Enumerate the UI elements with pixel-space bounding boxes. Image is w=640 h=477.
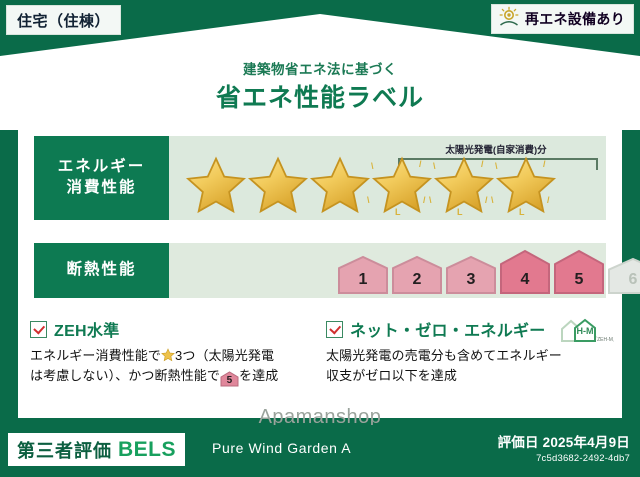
zeh-body: エネルギー消費性能で 3つ（太陽光発電 は考慮しない）、かつ断熱性能で 5 を達… — [30, 346, 312, 386]
star-sparkle-icon: L — [457, 207, 463, 217]
star-icon — [245, 155, 311, 217]
star-sparkle-icon: / — [543, 159, 546, 169]
insulation-level-number: 4 — [521, 271, 530, 289]
zeh-m-logo-caption: 『ZEH-M』 — [592, 336, 614, 343]
zeh-m-logo-icon: H-M 『ZEH-M』 — [558, 316, 614, 346]
zeh-m-logo-text: H-M — [577, 326, 594, 336]
building-type-label: 住宅（住棟） — [17, 10, 110, 31]
star-sparkle-icon: \ — [495, 161, 498, 171]
page-title: 省エネ性能ラベル — [0, 78, 640, 114]
insulation-level-number: 6 — [629, 271, 638, 289]
evaluation-date-value: 2025年4月9日 — [543, 435, 630, 450]
energy-performance-row: エネルギー 消費性能 太陽光発電(自家消費)分 \/\/L\/\/L\/\/L — [34, 136, 606, 220]
insulation-performance-value: 1234567 — [169, 243, 606, 298]
star-icon: \/\/L — [369, 155, 435, 217]
energy-key-line2: 消費性能 — [66, 178, 136, 199]
energy-star-rating: \/\/L\/\/L\/\/L — [183, 154, 600, 218]
star-sparkle-icon: / — [547, 195, 550, 205]
solar-sun-icon — [498, 6, 520, 33]
star-icon: \/\/L — [431, 155, 497, 217]
star-icon — [183, 155, 249, 217]
inline-star-icon — [161, 348, 175, 362]
star-sparkle-icon: \ — [367, 195, 370, 205]
insulation-level-house: 5 — [553, 249, 605, 295]
star-sparkle-icon: \ — [433, 161, 436, 171]
evaluation-date-label: 評価日 — [498, 435, 539, 450]
star-sparkle-icon: / — [481, 159, 484, 169]
zeh-body-line2-a: は考慮しない）、かつ断熱性能で — [30, 368, 220, 383]
bels-en-label: BELS — [118, 438, 176, 462]
renewable-equipment-badge: 再エネ設備あり — [491, 4, 634, 34]
insulation-level-number: 5 — [575, 271, 584, 289]
inline-house-badge: 5 — [220, 371, 239, 386]
footer-bar: 第三者評価 BELS Pure Wind Garden A 評価日 2025年4… — [0, 425, 640, 477]
insulation-level-house: 2 — [391, 255, 443, 295]
zeh-standard-section: ZEH水準 エネルギー消費性能で 3つ（太陽光発電 は考慮しない）、かつ断熱性能… — [30, 318, 312, 386]
renewable-equipment-label: 再エネ設備あり — [525, 9, 625, 29]
netzero-body: 太陽光発電の売電分も含めてエネルギー 収支がゼロ以下を達成 — [326, 346, 608, 386]
bels-jp-label: 第三者評価 — [17, 437, 112, 463]
insulation-performance-row: 断熱性能 1234567 — [34, 243, 606, 298]
energy-key-line1: エネルギー — [58, 157, 146, 178]
evaluation-date: 評価日 2025年4月9日 — [498, 431, 630, 451]
property-name: Pure Wind Garden A — [212, 440, 351, 456]
netzero-body-line2: 収支がゼロ以下を達成 — [326, 368, 457, 383]
insulation-level-scale: 1234567 — [337, 249, 640, 295]
zeh-heading: ZEH水準 — [30, 318, 312, 340]
evaluation-id: 7c5d3682-2492-4db7 — [498, 453, 630, 464]
zeh-title: ZEH水準 — [54, 317, 120, 341]
insulation-level-house: 6 — [607, 257, 640, 295]
check-icon — [326, 321, 343, 338]
star-sparkle-icon: / — [423, 195, 426, 205]
zeh-body-line1-b: 3つ（太陽光発電 — [175, 348, 274, 363]
insulation-level-house: 1 — [337, 255, 389, 295]
star-sparkle-icon: \ — [491, 195, 494, 205]
insulation-level-number: 3 — [467, 271, 476, 289]
zeh-body-line1-a: エネルギー消費性能で — [30, 348, 161, 363]
netzero-body-line1: 太陽光発電の売電分も含めてエネルギー — [326, 348, 562, 363]
star-icon: \/\/L — [493, 155, 559, 217]
insulation-performance-key: 断熱性能 — [34, 243, 169, 298]
energy-label-root: 住宅（住棟） 再エネ設備あり 建築物省エネ法に基づく 省エネ性能ラベル — [0, 0, 640, 477]
insulation-key-line1: 断熱性能 — [66, 260, 136, 281]
check-icon — [30, 321, 47, 338]
star-sparkle-icon: / — [485, 195, 488, 205]
evaluation-info: 評価日 2025年4月9日 7c5d3682-2492-4db7 — [498, 431, 630, 464]
star-sparkle-icon: / — [419, 159, 422, 169]
insulation-level-number: 2 — [413, 271, 422, 289]
net-zero-energy-section: ネット・ゼロ・エネルギー H-M 『ZEH-M』 太陽光発電の売電分も含めてエネ… — [326, 318, 608, 386]
star-sparkle-icon: L — [395, 207, 401, 217]
zeh-body-line2-b: を達成 — [239, 368, 278, 383]
inline-house-number: 5 — [220, 371, 239, 389]
energy-performance-key: エネルギー 消費性能 — [34, 136, 169, 220]
star-sparkle-icon: L — [519, 207, 525, 217]
insulation-level-house: 4 — [499, 249, 551, 295]
star-sparkle-icon: \ — [371, 161, 374, 171]
star-icon — [307, 155, 373, 217]
star-sparkle-icon: \ — [429, 195, 432, 205]
building-type-badge: 住宅（住棟） — [6, 5, 121, 35]
energy-performance-value: 太陽光発電(自家消費)分 \/\/L\/\/L\/\/L — [169, 136, 606, 220]
insulation-level-number: 1 — [359, 271, 368, 289]
insulation-level-house: 3 — [445, 255, 497, 295]
netzero-title: ネット・ゼロ・エネルギー — [350, 317, 546, 341]
bels-logo: 第三者評価 BELS — [8, 433, 185, 466]
label-subtitle: 建築物省エネ法に基づく — [0, 58, 640, 78]
